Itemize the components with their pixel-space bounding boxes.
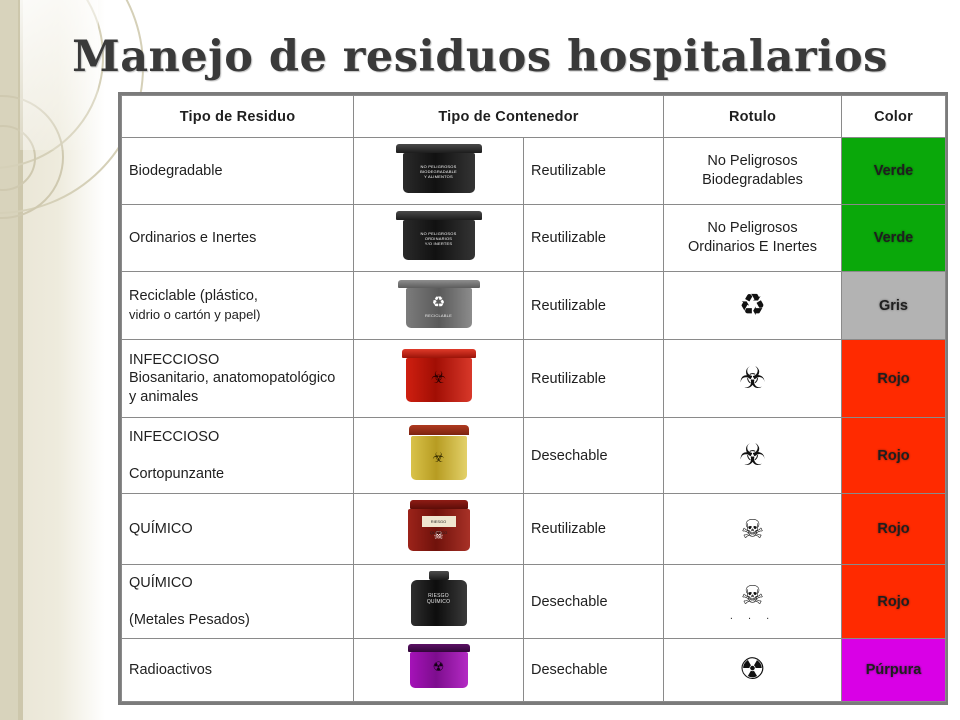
cell-color: Púrpura — [842, 639, 946, 702]
cell-container-image: ☣ — [354, 340, 524, 418]
cell-tipo-contenedor: Reutilizable — [524, 272, 664, 340]
cell-tipo-residuo: INFECCIOSO Biosanitario, anatomopatológi… — [122, 340, 354, 418]
cell-tipo-contenedor: Desechable — [524, 565, 664, 639]
cell-tipo-contenedor: Reutilizable — [524, 494, 664, 565]
column-header-rotulo: Rotulo — [664, 96, 842, 138]
table-row: Ordinarios e Inertes NO PELIGROSOS ORDIN… — [122, 205, 946, 272]
skull-and-crossbones-symbol-icon: ☠ — [741, 516, 764, 542]
bin-label-text: NO PELIGROSOS ORDINARIOS Y/O INERTES — [421, 231, 457, 246]
cell-tipo-contenedor: Desechable — [524, 418, 664, 494]
cell-container-image: RIESGO QUÍMICO — [354, 565, 524, 639]
color-label: Rojo — [877, 371, 909, 387]
cell-container-image: ☣ — [354, 418, 524, 494]
biohazard-symbol-icon: ☣ — [739, 441, 766, 471]
column-header-tipo-residuo: Tipo de Residuo — [122, 96, 354, 138]
table-row: INFECCIOSO Cortopunzante ☣ Desechable ☣ … — [122, 418, 946, 494]
cell-tipo-residuo-line2: Cortopunzante — [129, 466, 224, 482]
cell-tipo-residuo: Reciclable (plástico, vidrio o cartón y … — [122, 272, 354, 340]
cell-rotulo: ☠ — [664, 494, 842, 565]
cell-rotulo: ♻ — [664, 272, 842, 340]
table-row: Biodegradable NO PELIGROSOS BIODEGRADABL… — [122, 138, 946, 205]
cell-tipo-residuo-line2: Biosanitario, anatomopatológico y animal… — [129, 370, 335, 404]
cell-container-image: NO PELIGROSOS ORDINARIOS Y/O INERTES — [354, 205, 524, 272]
page-title: Manejo de residuos hospitalarios — [0, 32, 960, 82]
cell-rotulo: No Peligrosos Ordinarios E Inertes — [664, 205, 842, 272]
cell-rotulo: ☢ — [664, 639, 842, 702]
bin-lid — [409, 425, 469, 435]
table-row: Radioactivos ☢ Desechable ☢ Púrpura — [122, 639, 946, 702]
cell-container-image: NO PELIGROSOS BIODEGRADABLE Y ALIMENTOS — [354, 138, 524, 205]
cell-rotulo: ☠ . . . — [664, 565, 842, 639]
cell-color: Verde — [842, 138, 946, 205]
cell-color: Verde — [842, 205, 946, 272]
cell-rotulo: ☣ — [664, 340, 842, 418]
black-bin-icon: NO PELIGROSOS ORDINARIOS Y/O INERTES — [393, 209, 485, 263]
color-label: Púrpura — [866, 662, 922, 678]
biohazard-icon: ☣ — [431, 368, 446, 388]
skull-and-crossbones-symbol-icon: ☠ — [741, 582, 764, 608]
color-label: Rojo — [877, 594, 909, 610]
cell-rotulo: No Peligrosos Biodegradables — [664, 138, 842, 205]
table-row: INFECCIOSO Biosanitario, anatomopatológi… — [122, 340, 946, 418]
jug-cap — [429, 571, 449, 580]
red-bin-icon: ☣ — [393, 348, 485, 406]
cell-color: Rojo — [842, 565, 946, 639]
bin-label-text: NO PELIGROSOS BIODEGRADABLE Y ALIMENTOS — [420, 164, 457, 179]
cell-tipo-contenedor: Desechable — [524, 639, 664, 702]
dark-red-chemical-container-icon: RIESGO QUÍMICO ☠ — [393, 498, 485, 556]
radioactive-icon: ☢ — [433, 659, 445, 675]
bin-label-text: RIESGO QUÍMICO — [427, 593, 450, 606]
bin-lid — [402, 349, 476, 358]
cell-container-image: ☢ — [354, 639, 524, 702]
biohazard-icon: ☣ — [432, 449, 445, 466]
cell-tipo-contenedor: Reutilizable — [524, 205, 664, 272]
bin-lid — [410, 500, 468, 509]
recycling-symbol-icon: ♻ — [739, 291, 766, 321]
cell-tipo-residuo-line2: vidrio o cartón y papel) — [129, 307, 261, 322]
cell-tipo-residuo: Biodegradable — [122, 138, 354, 205]
cell-color: Rojo — [842, 340, 946, 418]
bin-lid — [398, 280, 480, 288]
cell-tipo-residuo-line2: (Metales Pesados) — [129, 612, 250, 628]
cell-tipo-residuo: Ordinarios e Inertes — [122, 205, 354, 272]
table-row: QUÍMICO RIESGO QUÍMICO ☠ Reutilizable ☠ … — [122, 494, 946, 565]
cell-tipo-residuo: QUÍMICO — [122, 494, 354, 565]
column-header-color: Color — [842, 96, 946, 138]
waste-management-table-container: Tipo de Residuo Tipo de Contenedor Rotul… — [118, 92, 948, 705]
cell-color: Rojo — [842, 494, 946, 565]
color-label: Rojo — [877, 448, 909, 464]
cell-tipo-residuo-line1: Reciclable (plástico, — [129, 288, 258, 304]
cell-tipo-contenedor: Reutilizable — [524, 340, 664, 418]
cell-container-image: ♻ RECICLABLE — [354, 272, 524, 340]
cell-tipo-residuo: Radioactivos — [122, 639, 354, 702]
cell-color: Rojo — [842, 418, 946, 494]
cell-tipo-residuo: QUÍMICO (Metales Pesados) — [122, 565, 354, 639]
cell-tipo-residuo-line1: INFECCIOSO — [129, 352, 219, 368]
rotulo-text: No Peligrosos Biodegradables — [702, 153, 803, 188]
black-bin-icon: NO PELIGROSOS BIODEGRADABLE Y ALIMENTOS — [393, 142, 485, 196]
table-row: Reciclable (plástico, vidrio o cartón y … — [122, 272, 946, 340]
color-label: Verde — [874, 163, 914, 179]
black-jug-icon: RIESGO QUÍMICO — [393, 571, 485, 629]
bin-lid — [396, 144, 482, 153]
waste-management-table: Tipo de Residuo Tipo de Contenedor Rotul… — [121, 95, 946, 702]
cell-tipo-contenedor: Reutilizable — [524, 138, 664, 205]
bin-lid — [396, 211, 482, 220]
radioactive-symbol-icon: ☢ — [739, 655, 766, 685]
rotulo-text: No Peligrosos Ordinarios E Inertes — [688, 220, 817, 255]
bin-label-text: RIESGO QUÍMICO — [422, 516, 456, 527]
cell-tipo-residuo-line1: QUÍMICO — [129, 575, 193, 591]
cell-rotulo: ☣ — [664, 418, 842, 494]
biohazard-symbol-icon: ☣ — [739, 364, 766, 394]
purple-bin-icon: ☢ — [393, 643, 485, 693]
cell-tipo-residuo: INFECCIOSO Cortopunzante — [122, 418, 354, 494]
table-row: QUÍMICO (Metales Pesados) RIESGO QUÍMICO… — [122, 565, 946, 639]
rotulo-dots: . . . — [671, 610, 834, 622]
color-label: Rojo — [877, 521, 909, 537]
skull-icon: ☠ — [434, 529, 444, 542]
cell-color: Gris — [842, 272, 946, 340]
cell-container-image: RIESGO QUÍMICO ☠ — [354, 494, 524, 565]
table-header-row: Tipo de Residuo Tipo de Contenedor Rotul… — [122, 96, 946, 138]
bin-lid — [408, 644, 470, 652]
grey-bin-icon: ♻ RECICLABLE — [393, 277, 485, 331]
column-header-tipo-contenedor: Tipo de Contenedor — [354, 96, 664, 138]
bin-label-text: RECICLABLE — [425, 313, 452, 318]
color-label: Verde — [874, 230, 914, 246]
recycling-icon: ♻ — [432, 293, 445, 311]
yellow-sharps-container-icon: ☣ — [393, 425, 485, 483]
cell-tipo-residuo-line1: INFECCIOSO — [129, 429, 219, 445]
color-label: Gris — [879, 298, 908, 314]
